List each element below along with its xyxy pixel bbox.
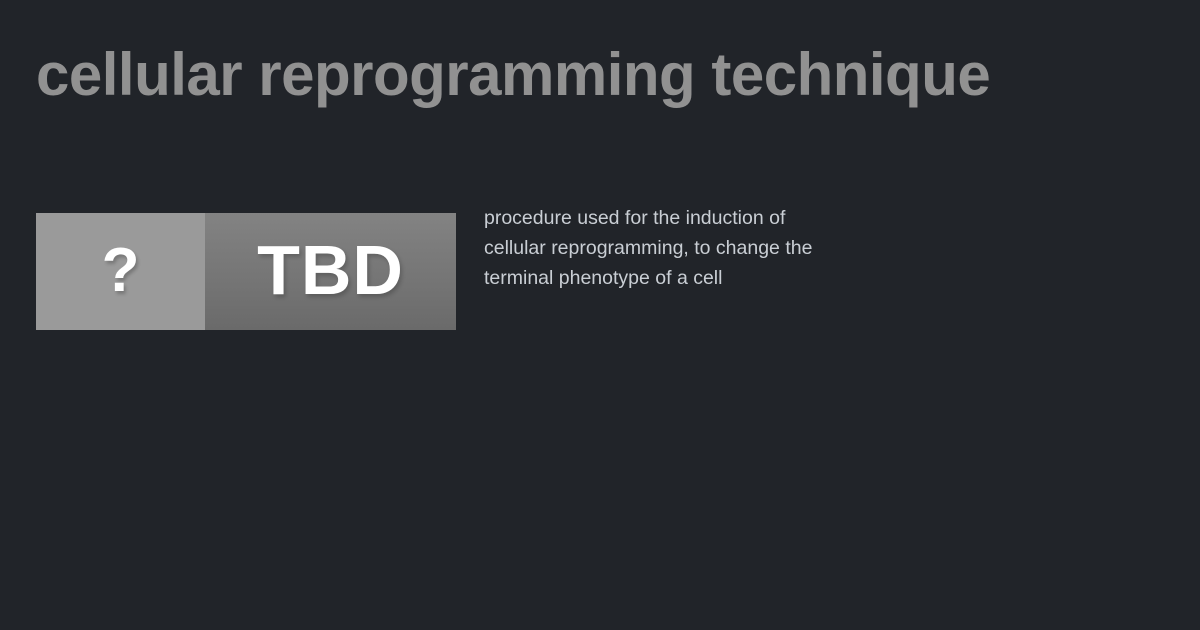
thumbnail-placeholder-panel: ?	[36, 213, 205, 330]
entity-body-row: ? TBD procedure used for the induction o…	[36, 213, 1166, 373]
tbd-label: TBD	[257, 235, 404, 305]
entity-thumbnail[interactable]: ? TBD	[36, 213, 456, 330]
thumbnail-tbd-panel: TBD	[205, 213, 456, 330]
page-title: cellular reprogramming technique	[36, 44, 1036, 105]
question-mark-icon: ?	[102, 240, 140, 302]
entity-preview-card: cellular reprogramming technique ? TBD p…	[0, 0, 1200, 630]
entity-description: procedure used for the induction of cell…	[484, 203, 836, 293]
